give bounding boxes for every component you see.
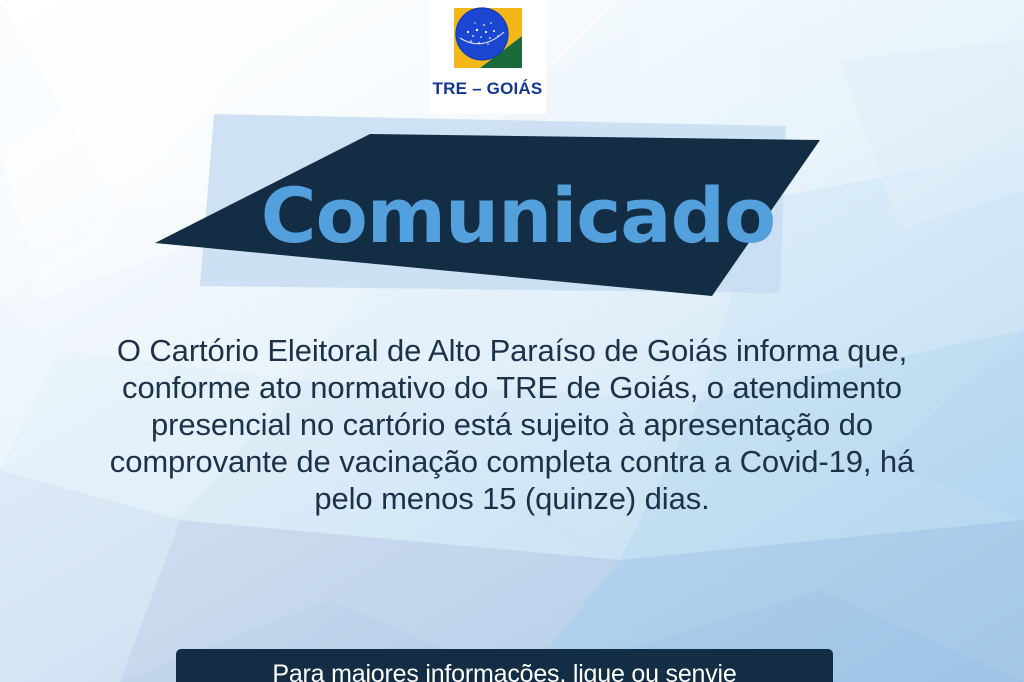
communication-poster: TRE – GOIÁS Comunicado O Cartório Eleito… <box>0 0 1024 682</box>
tre-goias-logo: TRE – GOIÁS <box>429 0 546 114</box>
announcement-body: O Cartório Eleitoral de Alto Paraíso de … <box>96 332 928 517</box>
banner-title: Comunicado <box>6 108 1024 323</box>
brazil-globe-flag-icon <box>446 6 530 76</box>
logo-label: TRE – GOIÁS <box>433 79 543 99</box>
banner: Comunicado <box>0 108 1024 323</box>
footer-contact-bar: Para maiores informações, ligue ou senvi… <box>176 649 833 682</box>
footer-contact-text: Para maiores informações, ligue ou senvi… <box>272 659 736 682</box>
